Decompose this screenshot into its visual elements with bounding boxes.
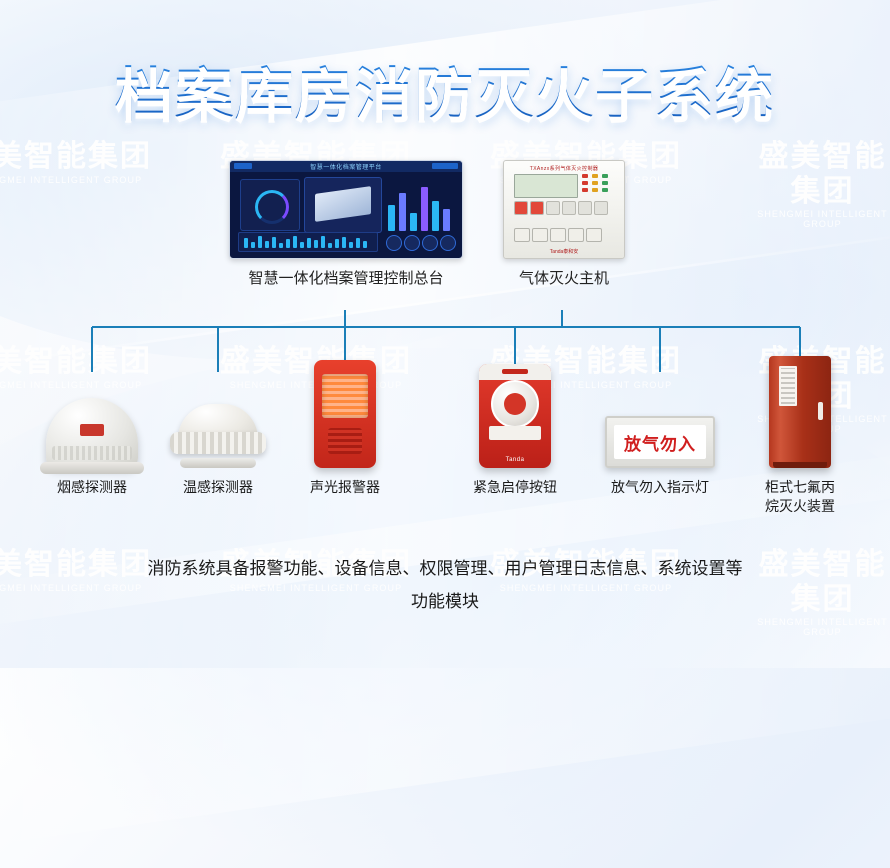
footer-line-2: 功能模块 [0, 586, 890, 618]
cabinet-handle [818, 402, 823, 420]
gas-host-button-row[interactable] [514, 228, 616, 242]
console-waveform [238, 232, 378, 252]
device-sound-light-alarm: 声光报警器 [285, 350, 405, 497]
console-gauge [240, 179, 300, 231]
hfc-cabinet-body [769, 356, 831, 468]
gas-host-header: TXAnzx系列气体灭火控制器 [504, 165, 624, 172]
gas-fire-host-block: TXAnzx系列气体灭火控制器 Tanda泰和安 气体灭火主机 [503, 160, 625, 288]
heat-detector-body [170, 404, 266, 468]
console-block: 智慧一体化档案管理平台 [229, 160, 463, 288]
heat-detector-icon [158, 350, 278, 468]
smoke-detector-body [46, 398, 138, 468]
sign-face: 放气勿入 [614, 425, 706, 459]
smoke-detector-label-strip [80, 424, 104, 436]
device-caption: 紧急启停按钮 [455, 478, 575, 497]
top-device-row: 智慧一体化档案管理平台 [0, 160, 890, 310]
gas-host-indicator-row [514, 201, 616, 217]
emergency-button-brand: Tanda [479, 457, 551, 463]
console-dials [386, 234, 454, 252]
device-caption: 放气勿入指示灯 [600, 478, 720, 497]
device-caption-line1: 柜式七氟丙 [765, 479, 835, 495]
alarm-speaker-grille [328, 428, 362, 454]
console-topbar-right [432, 163, 458, 169]
gas-host-screen [514, 174, 578, 198]
page-title: 档案库房消防灭火子系统 [0, 48, 890, 132]
smoke-detector-icon [32, 350, 152, 468]
heat-detector-base [180, 458, 256, 468]
device-caption: 柜式七氟丙 烷灭火装置 [740, 478, 860, 516]
console-caption: 智慧一体化档案管理控制总台 [229, 267, 463, 288]
gas-release-sign-icon: 放气勿入 [600, 350, 720, 468]
sign-text: 放气勿入 [624, 430, 696, 455]
console-topbar-left [234, 163, 252, 169]
alarm-strobe-window [322, 374, 368, 418]
device-gas-release-sign: 放气勿入 放气勿入指示灯 [600, 350, 720, 497]
emergency-button-label-plate [489, 426, 541, 440]
footer-line-1: 消防系统具备报警功能、设备信息、权限管理、用户管理日志信息、系统设置等 [148, 559, 743, 578]
device-caption: 烟感探测器 [32, 478, 152, 497]
device-hfc-cabinet: 柜式七氟丙 烷灭火装置 [740, 350, 860, 516]
console-server-model [304, 177, 382, 233]
emergency-button-top-cover [479, 364, 551, 380]
emergency-button-icon: Tanda [455, 350, 575, 468]
gas-host-leds [582, 174, 616, 196]
footer-description: 消防系统具备报警功能、设备信息、权限管理、用户管理日志信息、系统设置等 功能模块 [0, 553, 890, 618]
console-bar-chart [386, 177, 454, 231]
console-image: 智慧一体化档案管理平台 [229, 160, 463, 259]
device-smoke-detector: 烟感探测器 [32, 350, 152, 497]
cabinet-label-plate [779, 366, 797, 406]
device-caption: 温感探测器 [158, 478, 278, 497]
device-caption-line2: 烷灭火装置 [765, 498, 835, 514]
console-screen-title: 智慧一体化档案管理平台 [310, 162, 382, 171]
cabinet-foot [773, 462, 827, 468]
hfc-cabinet-icon [740, 350, 860, 468]
sound-light-alarm-icon [285, 350, 405, 468]
device-heat-detector: 温感探测器 [158, 350, 278, 497]
device-emergency-button: Tanda 紧急启停按钮 [455, 350, 575, 497]
gas-fire-host-image: TXAnzx系列气体灭火控制器 Tanda泰和安 [503, 160, 625, 259]
gas-release-sign-body: 放气勿入 [605, 416, 715, 468]
emergency-push-button[interactable] [491, 380, 539, 428]
device-caption: 声光报警器 [285, 478, 405, 497]
heat-detector-fins [170, 432, 266, 454]
gas-fire-host-caption: 气体灭火主机 [503, 267, 625, 288]
sound-light-alarm-body [314, 360, 376, 468]
emergency-button-body[interactable]: Tanda [479, 364, 551, 468]
gas-host-brand: Tanda泰和安 [504, 248, 624, 255]
console-topbar: 智慧一体化档案管理平台 [230, 161, 462, 172]
smoke-detector-base [40, 462, 144, 474]
